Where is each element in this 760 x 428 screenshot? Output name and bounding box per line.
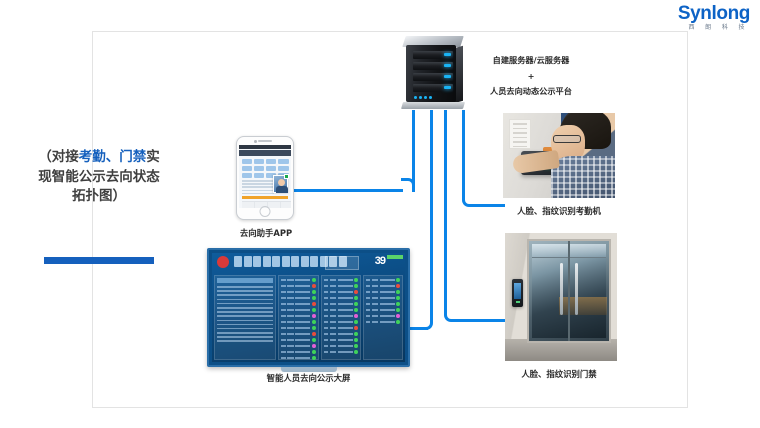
- wire-corner-phone: [401, 178, 415, 192]
- panel-title: [217, 278, 273, 283]
- display-roster-panel-3: [363, 275, 403, 360]
- display-roster-panel-1: [278, 275, 318, 360]
- server-tower[interactable]: [402, 36, 464, 110]
- app-icon[interactable]: [254, 159, 265, 165]
- wire-to-phone: [291, 189, 403, 192]
- brand-logo: Synlong 西 朗 科 技: [678, 4, 750, 31]
- face-recognition-reader: [512, 279, 523, 307]
- table-row: [324, 320, 358, 324]
- app-icon[interactable]: [266, 159, 277, 165]
- display-content: 39: [212, 253, 405, 362]
- table-row: [324, 332, 358, 336]
- table-row: [324, 278, 358, 282]
- display-indicator-bar: [387, 255, 403, 259]
- bigscreen-label: 智能人员去向公示大屏: [207, 372, 410, 384]
- table-row: [281, 320, 315, 324]
- wire-to-door: [455, 319, 505, 322]
- table-row: [281, 308, 315, 312]
- server-label-plus: +: [476, 69, 586, 85]
- glass-door-frame: [527, 239, 611, 343]
- public-display-screen[interactable]: 39: [207, 248, 410, 367]
- tab-item[interactable]: [268, 202, 281, 208]
- wall-poster: [509, 119, 531, 149]
- table-row: [366, 302, 400, 306]
- door-handle: [575, 263, 578, 315]
- table-row: [281, 290, 315, 294]
- brand-name: Synlong: [678, 4, 750, 23]
- glasses-icon: [553, 135, 581, 143]
- interior-glow: [559, 297, 607, 315]
- table-row: [281, 332, 315, 336]
- table-row: [324, 290, 358, 294]
- table-row: [324, 338, 358, 342]
- table-row: [366, 296, 400, 300]
- caption-accent-bar: [44, 257, 154, 264]
- table-row: [281, 338, 315, 342]
- table-row: [366, 314, 400, 318]
- phone-earpiece: [258, 140, 272, 142]
- door-label: 人脸、指纹识别门禁: [495, 368, 623, 380]
- server-drive-bay: [413, 84, 453, 92]
- server-status-leds: [414, 96, 440, 99]
- phone-highlight-bar: [242, 196, 288, 199]
- display-notice-panel: [214, 275, 276, 360]
- phone-status-bar: [239, 145, 291, 149]
- attendance-label: 人脸、指纹识别考勤机: [495, 205, 623, 217]
- display-stat-box: [325, 256, 359, 270]
- table-row: [366, 278, 400, 282]
- server-drive-bay: [413, 62, 453, 70]
- table-row: [281, 302, 315, 306]
- attendance-device-photo: [503, 113, 615, 198]
- table-row: [366, 320, 400, 324]
- server-chassis: [406, 45, 456, 102]
- server-base: [401, 102, 465, 109]
- door-handle: [560, 263, 563, 315]
- server-label-line3: 人员去向动态公示平台: [476, 84, 586, 100]
- caption-highlight-2: 禁: [133, 149, 147, 165]
- app-icon[interactable]: [266, 166, 277, 172]
- table-row: [366, 308, 400, 312]
- wire-trunk-4: [462, 110, 465, 200]
- caption-highlight-1: 考勤、门: [79, 149, 133, 165]
- table-row: [366, 290, 400, 294]
- display-kpi-value: 39: [375, 255, 385, 267]
- app-icon[interactable]: [278, 159, 289, 165]
- server-label: 自建服务器/云服务器 + 人员去向动态公示平台: [476, 53, 586, 100]
- smartphone-device[interactable]: [236, 136, 294, 220]
- server-label-line1: 自建服务器/云服务器: [476, 53, 586, 69]
- table-row: [281, 326, 315, 330]
- display-header: 39: [212, 253, 405, 273]
- app-icon[interactable]: [278, 166, 289, 172]
- table-row: [281, 350, 315, 354]
- phone-label: 去向助手APP: [214, 227, 318, 239]
- door-mullion: [568, 241, 570, 341]
- door-access-photo: [505, 233, 617, 361]
- table-row: [324, 326, 358, 330]
- phone-home-button[interactable]: [260, 206, 271, 217]
- table-row: [324, 314, 358, 318]
- tab-item[interactable]: [281, 202, 291, 208]
- display-roster-panel-2: [321, 275, 361, 360]
- slide-canvas: Synlong 西 朗 科 技 （对接考勤、门禁实现智能公示去向状态拓扑图）: [0, 0, 760, 428]
- server-drive-bay: [413, 51, 453, 59]
- table-row: [324, 284, 358, 288]
- app-icon[interactable]: [242, 173, 253, 179]
- table-row: [281, 296, 315, 300]
- app-icon[interactable]: [242, 159, 253, 165]
- table-row: [281, 278, 315, 282]
- table-row: [281, 344, 315, 348]
- phone-camera-icon: [254, 140, 257, 143]
- app-icon[interactable]: [254, 166, 265, 172]
- display-panels: [214, 275, 403, 360]
- server-drive-bay: [413, 73, 453, 81]
- app-icon[interactable]: [242, 166, 253, 172]
- display-bezel: 39: [207, 248, 410, 367]
- org-logo-icon: [217, 256, 229, 268]
- caption-prefix: （对接: [38, 149, 79, 165]
- wire-trunk-3: [444, 110, 447, 315]
- table-row: [324, 302, 358, 306]
- phone-screen[interactable]: [239, 145, 291, 208]
- table-row: [281, 284, 315, 288]
- wire-trunk-1: [412, 110, 415, 185]
- slide-caption: （对接考勤、门禁实现智能公示去向状态拓扑图）: [36, 148, 162, 207]
- table-row: [324, 308, 358, 312]
- status-badge: [284, 174, 289, 179]
- app-icon[interactable]: [254, 173, 265, 179]
- table-row: [281, 314, 315, 318]
- table-row: [281, 356, 315, 360]
- person-shirt: [551, 156, 615, 198]
- wire-trunk-2: [430, 110, 433, 323]
- table-row: [366, 284, 400, 288]
- brand-subtitle: 西 朗 科 技: [678, 25, 750, 31]
- table-row: [324, 344, 358, 348]
- tab-item[interactable]: [242, 202, 255, 208]
- table-row: [324, 296, 358, 300]
- table-row: [324, 350, 358, 354]
